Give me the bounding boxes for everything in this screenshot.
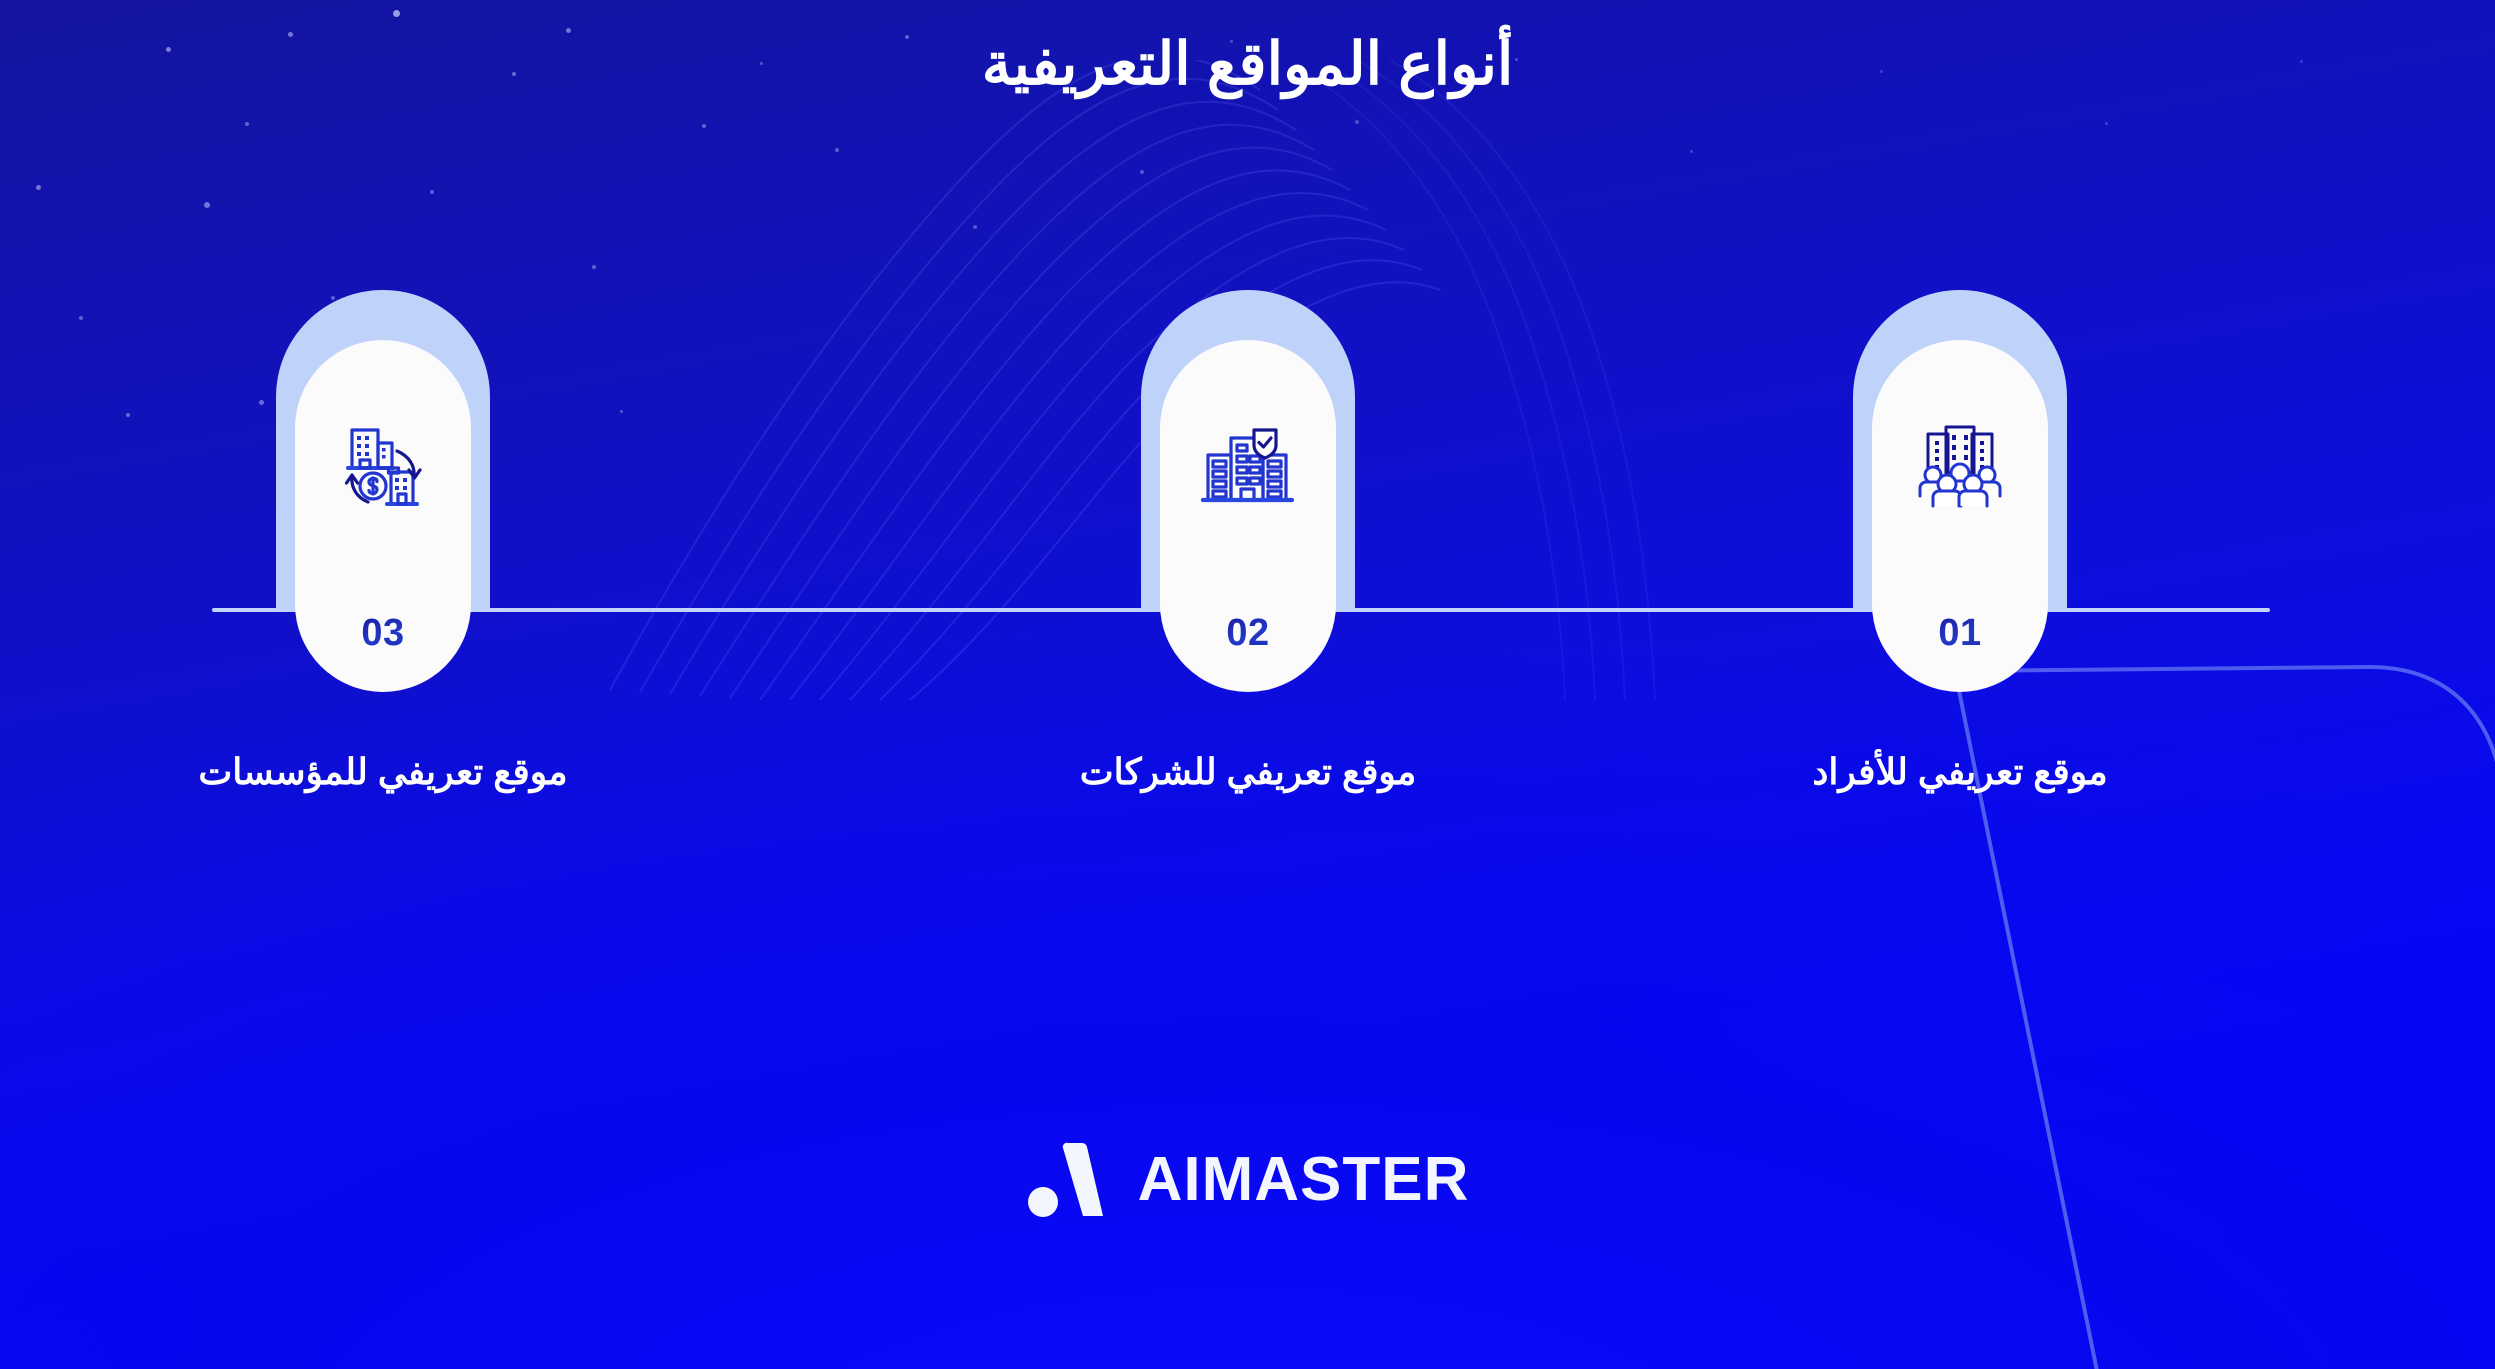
item-number: 01	[1938, 614, 1981, 652]
aimaster-logo-mark	[1026, 1140, 1112, 1220]
item-caption: موقع تعريفي للشركات	[1048, 748, 1448, 796]
capsule-card[interactable]: 02	[1160, 340, 1336, 692]
brand-logo-text: AIMASTER	[1138, 1149, 1470, 1211]
capsule-card[interactable]: 03	[295, 340, 471, 692]
brand-logo: AIMASTER	[0, 1140, 2495, 1220]
buildings-people-group-icon	[1872, 340, 2048, 592]
page-title: أنواع المواقع التعريفية	[0, 28, 2495, 102]
buildings-money-exchange-icon	[295, 340, 471, 592]
item-number: 02	[1226, 614, 1269, 652]
item-caption: موقع تعريفي للأفراد	[1760, 748, 2160, 796]
buildings-shield-check-icon	[1160, 340, 1336, 592]
capsule-card[interactable]: 01	[1872, 340, 2048, 692]
item-number: 03	[361, 614, 404, 652]
item-caption: موقع تعريفي للمؤسسات	[183, 748, 583, 796]
timeline-items: 03 موقع تعريفي للمؤسسات	[0, 290, 2495, 970]
infographic-canvas: أنواع المواقع التعريفية	[0, 0, 2495, 1369]
